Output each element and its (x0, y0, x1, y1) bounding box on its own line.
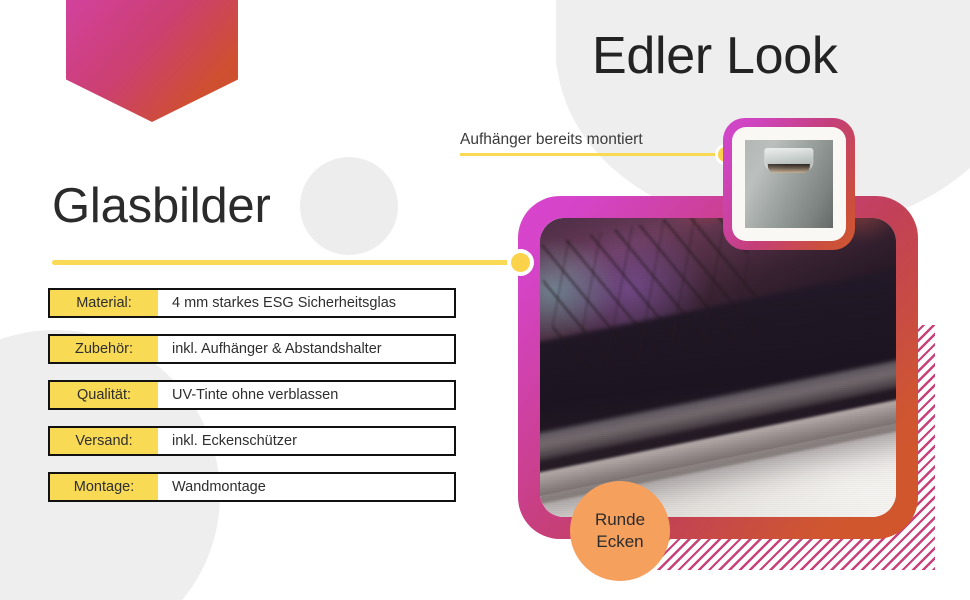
spec-value: 4 mm starkes ESG Sicherheitsglas (158, 290, 454, 316)
spec-key: Qualität: (50, 382, 158, 408)
table-row: Zubehör: inkl. Aufhänger & Abstandshalte… (48, 334, 456, 364)
wall-hanger-icon (745, 140, 833, 228)
product-photo (540, 218, 896, 517)
spec-key: Zubehör: (50, 336, 158, 362)
product-photo-frame (518, 196, 918, 539)
spec-key: Versand: (50, 428, 158, 454)
rounded-corners-line1: Runde (595, 509, 645, 531)
hanger-inset-mat (732, 127, 846, 241)
hanger-plate-sheen (745, 140, 833, 228)
spec-value: UV-Tinte ohne verblassen (158, 382, 454, 408)
rounded-corners-line2: Ecken (596, 531, 643, 553)
hanger-callout-label: Aufhänger bereits montiert (460, 131, 643, 149)
table-row: Qualität: UV-Tinte ohne verblassen (48, 380, 456, 410)
page-title-right: Edler Look (592, 26, 838, 86)
spec-value: inkl. Aufhänger & Abstandshalter (158, 336, 454, 362)
spec-value: Wandmontage (158, 474, 454, 500)
table-row: Montage: Wandmontage (48, 472, 456, 502)
connector-dot (511, 253, 530, 272)
hanger-callout-line (460, 153, 724, 156)
divider-line (52, 260, 520, 265)
table-row: Versand: inkl. Eckenschützer (48, 426, 456, 456)
promo-banner: Edler Look Glasbilder Aufhänger bereits … (0, 0, 970, 600)
spec-value: inkl. Eckenschützer (158, 428, 454, 454)
hanger-inset-card (723, 118, 855, 250)
spec-table: Material: 4 mm starkes ESG Sicherheitsgl… (48, 288, 456, 502)
table-row: Material: 4 mm starkes ESG Sicherheitsgl… (48, 288, 456, 318)
rounded-corners-badge: Runde Ecken (570, 481, 670, 581)
shield-badge-icon (66, 0, 238, 122)
page-title: Glasbilder (52, 178, 271, 234)
spec-key: Montage: (50, 474, 158, 500)
spec-key: Material: (50, 290, 158, 316)
decorative-grey-circle (300, 157, 398, 255)
